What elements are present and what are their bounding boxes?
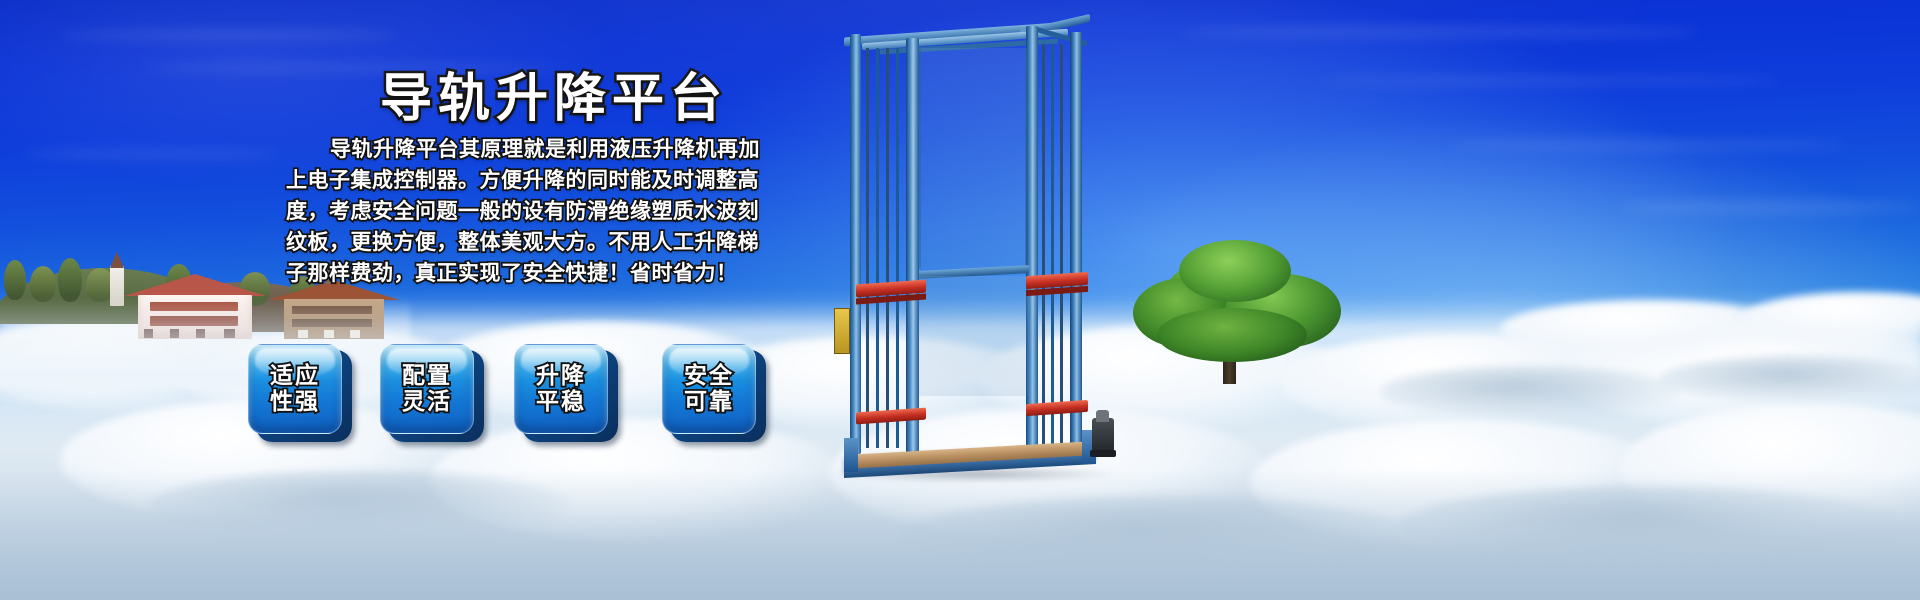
cloud-shadow <box>1660 356 1920 402</box>
cirrus-streak <box>20 150 280 158</box>
feature-line-2: 灵活 <box>402 389 452 415</box>
column-left-rear <box>850 34 861 454</box>
feature-cube-4-label: 安全 可靠 <box>662 344 756 434</box>
feature-cube-2[interactable]: 配置 灵活 <box>380 344 480 440</box>
green-tree <box>1105 252 1355 382</box>
guide-rail <box>896 48 899 448</box>
promo-banner: 导轨升降平台 导轨升降平台其原理就是利用液压升降机再加上电子集成控制器。方便升降… <box>0 0 1920 600</box>
motor-cap <box>1096 410 1109 422</box>
cirrus-streak <box>1620 200 1920 214</box>
feature-cube-3[interactable]: 升降 平稳 <box>514 344 614 440</box>
small-tree <box>4 260 26 300</box>
machine-shadow <box>830 466 1120 482</box>
feature-cubes: 适应 性强 配置 灵活 升降 平稳 <box>248 344 788 454</box>
feature-line-2: 平稳 <box>536 389 586 415</box>
cloud-shadow <box>1380 366 1680 418</box>
power-unit <box>1092 418 1114 452</box>
feature-cube-2-label: 配置 灵活 <box>380 344 474 434</box>
guide-rail <box>876 48 879 448</box>
feature-line-1: 配置 <box>402 363 452 389</box>
cirrus-streak <box>1320 76 1780 85</box>
feature-cube-3-label: 升降 平稳 <box>514 344 608 434</box>
guide-rail <box>1060 44 1063 448</box>
small-tree <box>58 258 82 302</box>
cirrus-streak <box>1180 26 1700 38</box>
tree-canopy <box>1157 308 1307 362</box>
cage-lower-panel <box>919 276 1029 396</box>
cirrus-streak <box>1450 140 1850 150</box>
guide-rail <box>866 48 869 448</box>
column-left-front <box>906 38 919 462</box>
guide-rail <box>1042 44 1045 448</box>
guide-rail <box>886 48 889 448</box>
feature-line-1: 安全 <box>684 363 734 389</box>
feature-cube-1[interactable]: 适应 性强 <box>248 344 348 440</box>
cirrus-streak <box>60 30 400 40</box>
feature-line-2: 性强 <box>270 389 320 415</box>
feature-line-1: 升降 <box>536 363 586 389</box>
page-title: 导轨升降平台 <box>380 56 728 131</box>
feature-cube-4[interactable]: 安全 可靠 <box>662 344 762 440</box>
description-text: 导轨升降平台其原理就是利用液压升降机再加上电子集成控制器。方便升降的同时能及时调… <box>286 134 766 289</box>
cage-back-panel <box>919 48 1027 268</box>
rail-lift-platform <box>820 18 1120 478</box>
column-right-front <box>1070 32 1082 456</box>
guide-rail <box>1051 44 1054 448</box>
control-box <box>834 308 850 354</box>
tree-canopy <box>1179 240 1291 302</box>
feature-cube-1-label: 适应 性强 <box>248 344 342 434</box>
bottom-haze <box>0 470 1920 600</box>
small-tree <box>30 266 56 302</box>
power-unit-base <box>1090 450 1116 457</box>
feature-line-1: 适应 <box>270 363 320 389</box>
feature-line-2: 可靠 <box>684 389 734 415</box>
